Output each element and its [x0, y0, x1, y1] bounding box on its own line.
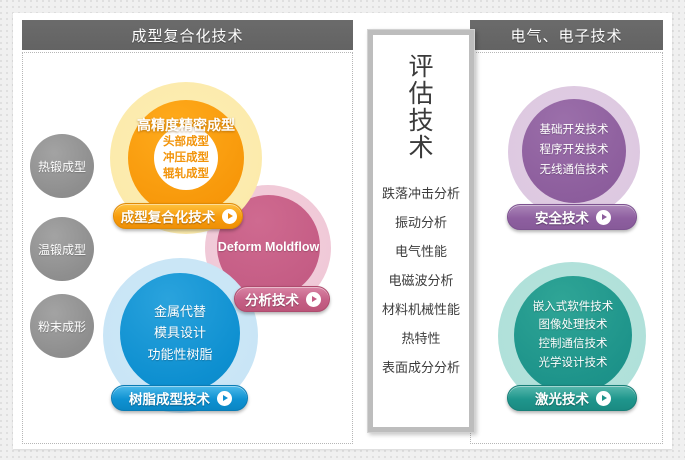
- gray-circle-powder-forming[interactable]: 粉末成形: [30, 294, 94, 358]
- button-label: 成型复合化技术: [121, 206, 216, 226]
- orange-caption: 高精度精密成型: [118, 115, 254, 135]
- blue-line: 功能性树脂: [147, 344, 212, 365]
- orange-line: 头部成型: [163, 134, 209, 150]
- play-arrow-icon: [596, 210, 611, 225]
- gray-circle-hot-forging[interactable]: 热锻成型: [30, 134, 94, 198]
- teal-line: 图像处理技术: [539, 316, 608, 335]
- button-label: 激光技术: [535, 388, 589, 408]
- cluster-purple-safety: 基础开发技术 程序开发技术 无线通信技术: [508, 86, 640, 218]
- center-panel-title: 评估技术: [409, 54, 434, 162]
- left-panel-header: 成型复合化技术: [22, 20, 353, 50]
- list-item: 材料机械性能: [382, 295, 460, 324]
- button-label: 安全技术: [535, 207, 589, 227]
- button-label: 分析技术: [245, 289, 299, 309]
- center-evaluation-panel: 评估技术 跌落冲击分析 振动分析 电气性能 电磁波分析 材料机械性能 热特性 表…: [367, 29, 475, 433]
- teal-line: 光学设计技术: [539, 354, 608, 373]
- play-arrow-icon: [306, 292, 321, 307]
- play-arrow-icon: [217, 391, 232, 406]
- blue-line: 金属代替: [154, 301, 206, 322]
- pink-line: Deform Moldflow: [218, 240, 319, 254]
- gray-circle-label: 温锻成型: [38, 241, 86, 258]
- button-analysis-tech[interactable]: 分析技术: [234, 286, 330, 312]
- diagram-canvas: 成型复合化技术 电气、电子技术 热锻成型 温锻成型 粉末成形 高精度精密成型 头…: [0, 0, 685, 460]
- gray-circle-label: 粉末成形: [38, 318, 86, 335]
- button-label: 树脂成型技术: [129, 388, 210, 408]
- purple-core: 基础开发技术 程序开发技术 无线通信技术: [522, 99, 626, 203]
- teal-line: 控制通信技术: [539, 335, 608, 354]
- play-arrow-icon: [222, 209, 237, 224]
- center-panel-inner: 评估技术 跌落冲击分析 振动分析 电气性能 电磁波分析 材料机械性能 热特性 表…: [374, 36, 468, 426]
- right-panel-header: 电气、电子技术: [470, 20, 663, 50]
- teal-line: 嵌入式软件技术: [533, 298, 614, 317]
- blue-core: 金属代替 模具设计 功能性树脂: [120, 273, 240, 393]
- gray-circle-warm-forging[interactable]: 温锻成型: [30, 217, 94, 281]
- list-item: 振动分析: [395, 208, 447, 237]
- list-item: 电气性能: [395, 237, 447, 266]
- purple-line: 程序开发技术: [540, 141, 609, 161]
- list-item: 热特性: [401, 324, 440, 353]
- list-item: 表面成分分析: [382, 353, 460, 382]
- center-panel-list: 跌落冲击分析 振动分析 电气性能 电磁波分析 材料机械性能 热特性 表面成分分析: [374, 179, 468, 382]
- orange-core-text: 头部成型 冲压成型 辊轧成型: [154, 126, 218, 190]
- list-item: 电磁波分析: [388, 266, 453, 295]
- orange-line: 辊轧成型: [163, 166, 209, 182]
- purple-line: 基础开发技术: [540, 121, 609, 141]
- blue-line: 模具设计: [154, 322, 206, 343]
- gray-circle-label: 热锻成型: [38, 158, 86, 175]
- purple-line: 无线通信技术: [540, 161, 609, 181]
- button-laser-tech[interactable]: 激光技术: [507, 385, 637, 411]
- list-item: 跌落冲击分析: [382, 179, 460, 208]
- teal-core: 嵌入式软件技术 图像处理技术 控制通信技术 光学设计技术: [514, 276, 632, 394]
- orange-line: 冲压成型: [163, 150, 209, 166]
- button-composite-molding-tech[interactable]: 成型复合化技术: [113, 203, 243, 229]
- button-safety-tech[interactable]: 安全技术: [507, 204, 637, 230]
- play-arrow-icon: [596, 391, 611, 406]
- button-resin-molding-tech[interactable]: 树脂成型技术: [111, 385, 248, 411]
